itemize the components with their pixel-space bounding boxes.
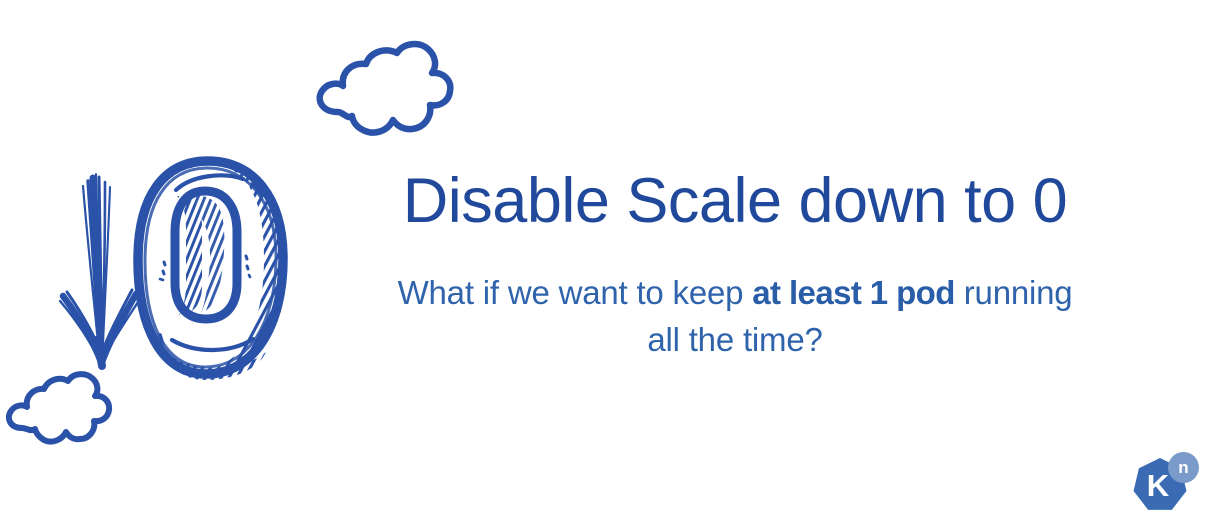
subtitle-line-1: What if we want to keep at least 1 pod r… xyxy=(360,270,1110,317)
subtitle-text-after: running xyxy=(955,274,1073,311)
cloud-bottom-left-icon xyxy=(9,374,109,441)
page-subtitle: What if we want to keep at least 1 pod r… xyxy=(360,233,1110,364)
cloud-top-icon xyxy=(320,44,451,133)
down-arrow-icon xyxy=(60,174,140,366)
page-title: Disable Scale down to 0 xyxy=(360,170,1110,233)
subtitle-text-before: What if we want to keep xyxy=(398,274,753,311)
subtitle-emphasis: at least 1 pod xyxy=(752,274,955,311)
text-block: Disable Scale down to 0 What if we want … xyxy=(360,170,1110,364)
subtitle-line-2: all the time? xyxy=(360,317,1110,364)
knative-logo: K n xyxy=(1129,452,1205,514)
logo-n-letter: n xyxy=(1168,452,1199,483)
slide-canvas: Disable Scale down to 0 What if we want … xyxy=(0,0,1212,525)
hand-drawn-zero-icon xyxy=(138,150,305,395)
